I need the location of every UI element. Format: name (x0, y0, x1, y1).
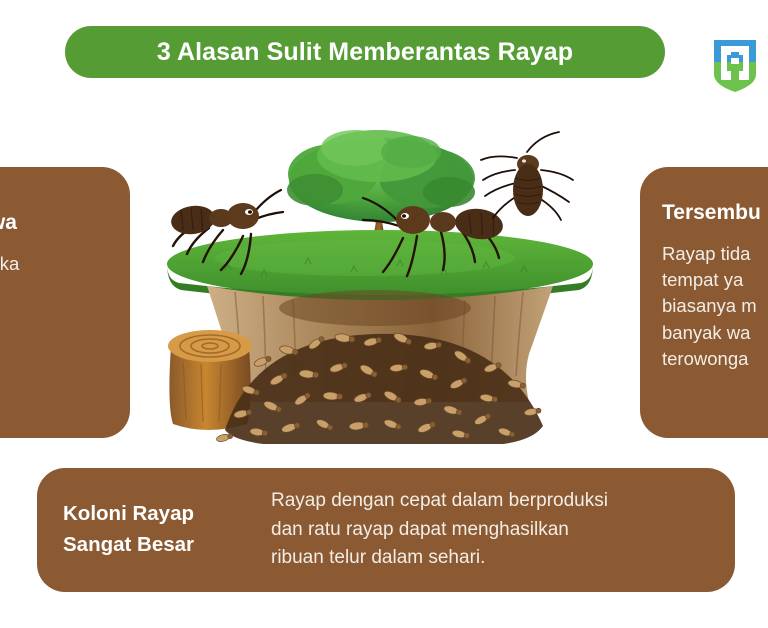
card-left-heading: stimewa (0, 209, 108, 237)
company-shield-logo (712, 34, 758, 92)
card-right-body-line: banyak wa (662, 320, 768, 346)
termite-colony-illustration (165, 112, 595, 452)
card-right-body: Rayap tida tempat ya biasanya m banyak w… (662, 241, 768, 372)
card-bottom-heading: Koloni Rayap Sangat Besar (63, 499, 255, 561)
card-left-body: nati, maka ja akan ebagai antikan (0, 251, 108, 356)
card-right-body-line: tempat ya (662, 267, 768, 293)
card-right-body-line: biasanya m (662, 293, 768, 319)
card-right-heading: Tersembu Baik (662, 199, 768, 227)
card-reason-koloni: Koloni Rayap Sangat Besar Rayap dengan c… (37, 468, 735, 592)
infographic-canvas: 3 Alasan Sulit Memberantas Rayap (0, 0, 768, 628)
card-left-body-line: ebagai (0, 303, 108, 329)
page-title-pill: 3 Alasan Sulit Memberantas Rayap (65, 26, 665, 78)
winged-termite (481, 132, 573, 220)
card-bottom-heading-line: Koloni Rayap (63, 499, 255, 530)
card-right-body-line: terowonga (662, 346, 768, 372)
card-bottom-body: Rayap dengan cepat dalam berproduksi dan… (271, 487, 608, 573)
card-right-heading-line: Tersembu (662, 201, 761, 224)
card-bottom-body-line: ribuan telur dalam sehari. (271, 544, 608, 573)
card-bottom-body-line: Rayap dengan cepat dalam berproduksi (271, 487, 608, 516)
card-right-body-line: Rayap tida (662, 241, 768, 267)
card-bottom-body-line: dan ratu rayap dapat menghasilkan (271, 516, 608, 545)
card-left-body-line: ja akan (0, 277, 108, 303)
page-title: 3 Alasan Sulit Memberantas Rayap (157, 38, 573, 67)
card-left-body-line: antikan (0, 330, 108, 356)
card-reason-istimewa: stimewa nati, maka ja akan ebagai antika… (0, 167, 130, 438)
card-reason-tersembunyi: Tersembu Baik Rayap tida tempat ya biasa… (640, 167, 768, 438)
card-bottom-heading-line: Sangat Besar (63, 530, 255, 561)
card-left-body-line: nati, maka (0, 251, 108, 277)
